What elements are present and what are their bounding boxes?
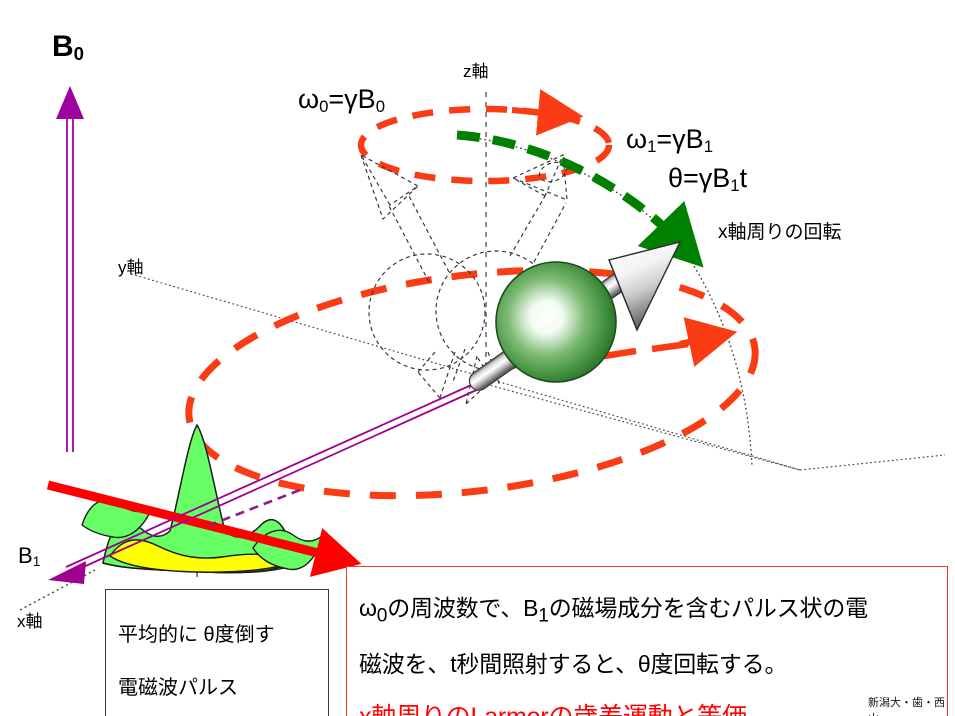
b1-arrowhead — [48, 561, 86, 584]
pulse-box-line2: 電磁波パルス — [118, 675, 316, 701]
floor-right-edge — [800, 455, 945, 470]
omega0-formula: ω0=γB0 — [298, 84, 385, 115]
summary-line-2: 磁波を、t秒間照射すると、θ度回転する。 — [359, 650, 937, 680]
y-axis-line — [131, 274, 800, 470]
b1-label: B1 — [18, 543, 40, 568]
x-rotation-annotation: x軸周りの回転 — [718, 222, 842, 244]
figure-canvas: B0 B1 z軸 y軸 x軸 ω0=γB0 ω1=γB1 θ=γB1t x軸周り… — [0, 0, 955, 716]
spin-direction-arrow-right — [598, 338, 708, 357]
theta-formula: θ=γB1t — [668, 163, 747, 194]
y-axis-label: y軸 — [118, 258, 144, 278]
spin-vector — [466, 242, 680, 394]
pulse-description-box: 平均的に θ度倒す 電磁波パルス — [105, 589, 329, 716]
small-ellipse-direction-arrow — [512, 110, 556, 114]
b0-arrow — [56, 86, 84, 452]
pulse-box-line1: 平均的に θ度倒す — [118, 622, 316, 648]
z-axis-label: z軸 — [463, 62, 489, 82]
plane-edge-front — [478, 382, 800, 470]
summary-box: ω0の周波数で、B1の磁場成分を含むパルス状の電 磁波を、t秒間照射すると、θ度… — [346, 566, 948, 716]
green-sphere — [496, 262, 616, 382]
summary-line-red: x軸周りのLarmorの歳差運動と等価。 — [359, 701, 937, 716]
omega1-formula: ω1=γB1 — [626, 124, 713, 155]
x-axis-label: x軸 — [17, 612, 43, 632]
summary-line-1: ω0の周波数で、B1の磁場成分を含むパルス状の電 — [359, 594, 937, 630]
credit-label: 新潟大・歯・西山 — [868, 694, 955, 716]
b0-label: B0 — [52, 30, 84, 65]
